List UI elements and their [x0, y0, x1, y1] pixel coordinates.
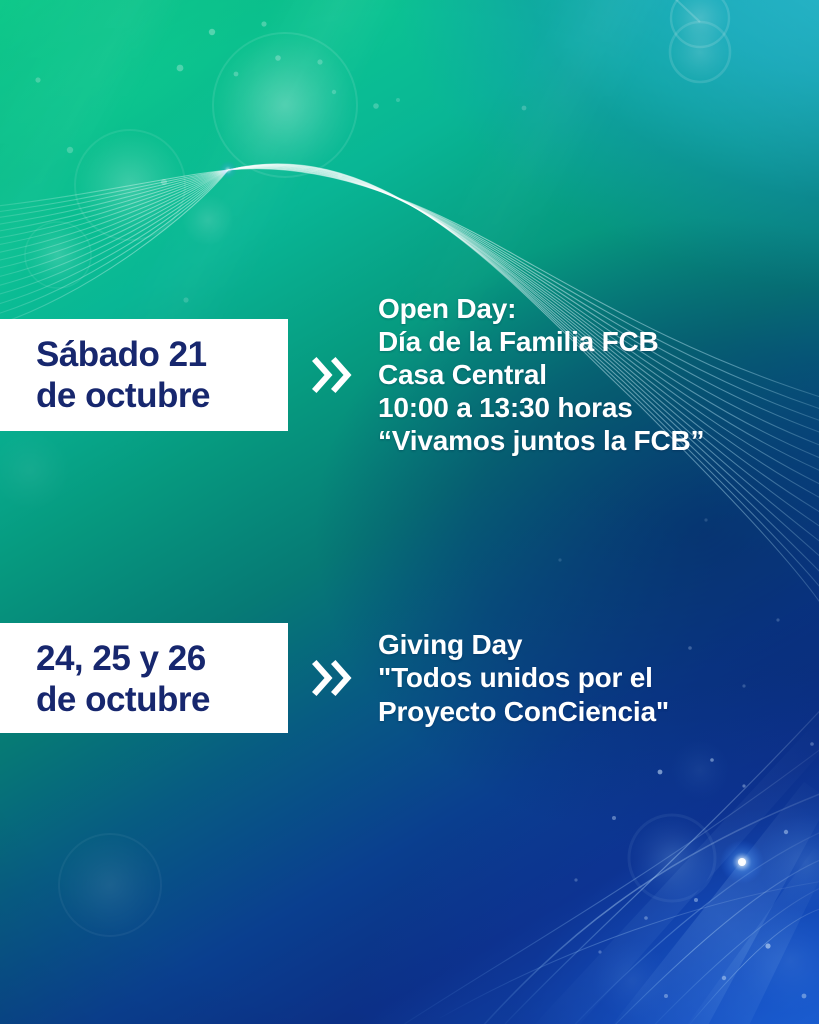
detail-block-giving-day: Giving Day "Todos unidos por el Proyecto… [378, 628, 819, 727]
date-line-2: de octubre [36, 680, 288, 721]
detail-line-title: Open Day: [378, 292, 819, 325]
detail-line-location: Casa Central [378, 358, 819, 391]
date-line-2: de octubre [36, 376, 288, 417]
double-chevron-right-icon [310, 355, 356, 395]
detail-line-slogan: “Vivamos juntos la FCB” [378, 424, 819, 457]
schedule-entry-open-day: Sábado 21 de octubre Open Day: Día de la… [0, 292, 819, 457]
detail-line-title: Giving Day [378, 628, 819, 661]
date-box-giving-day: 24, 25 y 26 de octubre [0, 623, 288, 733]
double-chevron-right-icon [310, 658, 356, 698]
detail-line-slogan-2: Proyecto ConCiencia" [378, 695, 819, 728]
date-line-1: Sábado 21 [36, 335, 288, 376]
detail-block-open-day: Open Day: Día de la Familia FCB Casa Cen… [378, 292, 819, 457]
content-root: Sábado 21 de octubre Open Day: Día de la… [0, 0, 819, 1024]
detail-line-time: 10:00 a 13:30 horas [378, 391, 819, 424]
detail-line-slogan-1: "Todos unidos por el [378, 661, 819, 694]
date-line-1: 24, 25 y 26 [36, 639, 288, 680]
date-box-open-day: Sábado 21 de octubre [0, 319, 288, 431]
poster-canvas: Sábado 21 de octubre Open Day: Día de la… [0, 0, 819, 1024]
detail-line-subtitle: Día de la Familia FCB [378, 325, 819, 358]
schedule-entry-giving-day: 24, 25 y 26 de octubre Giving Day "Todos… [0, 623, 819, 733]
